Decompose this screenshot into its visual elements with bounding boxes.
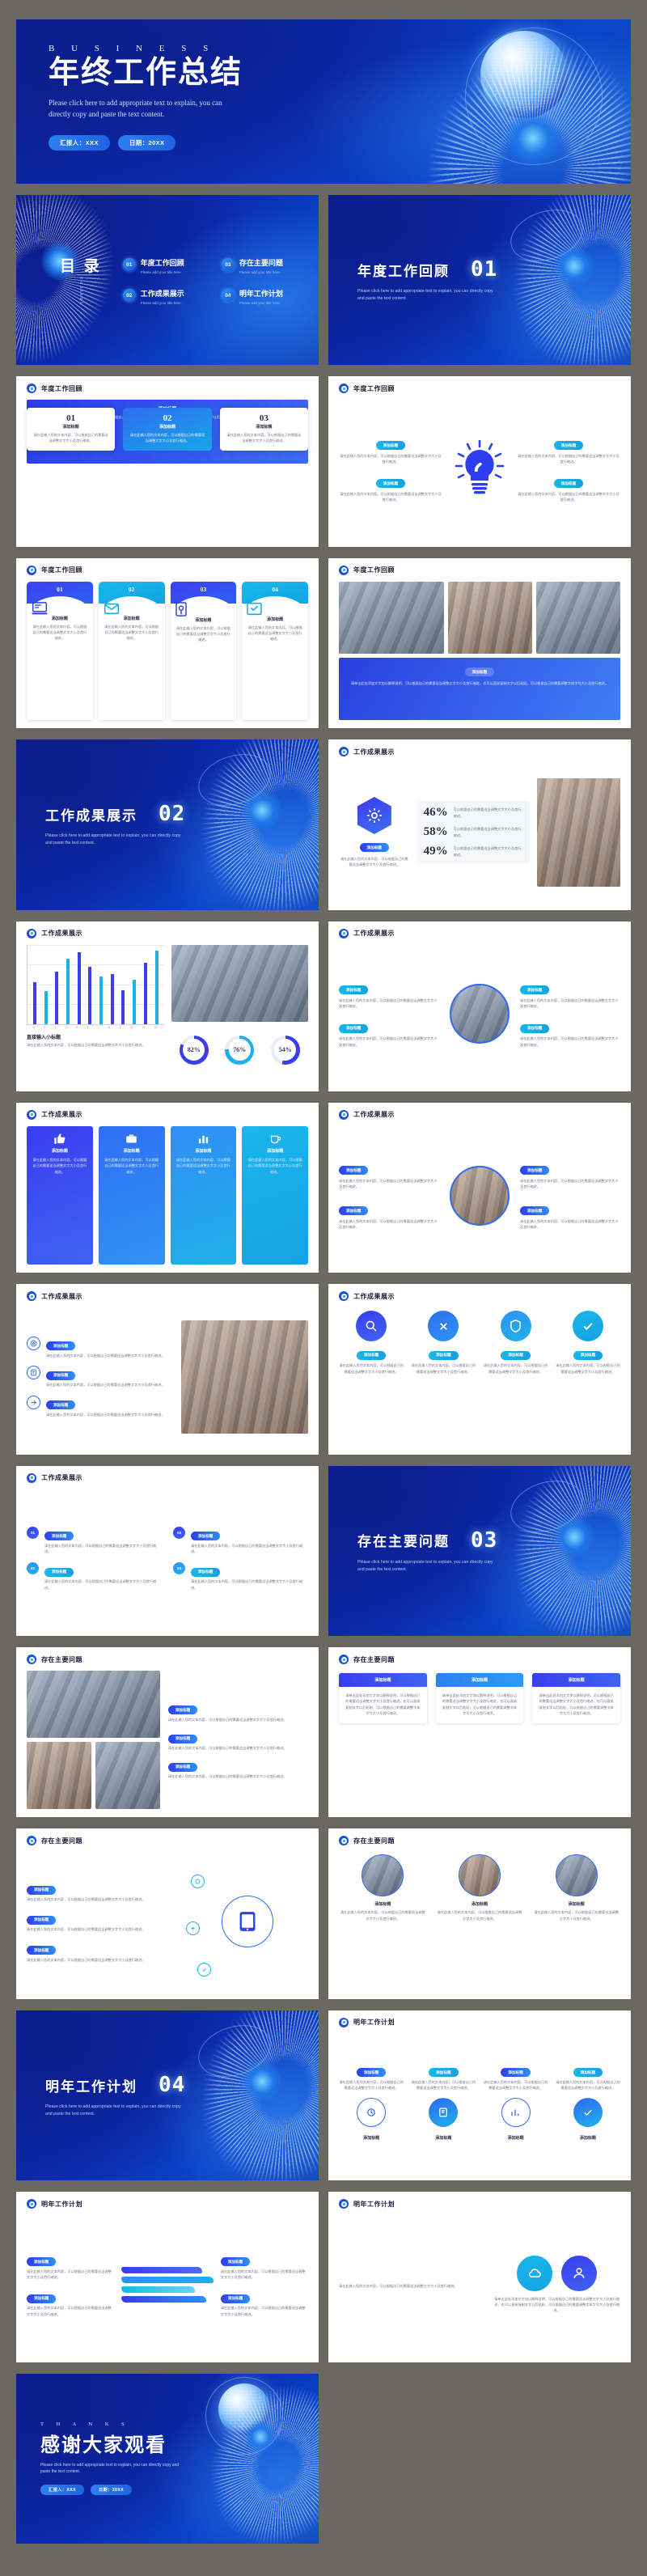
ribbon-item-4[interactable]: 添加标题 请在此输入您的文本内容，可以根据自己的需要适当调整文字大小及首行缩进。 (221, 2289, 308, 2317)
chart-x-label: 12 (154, 1026, 158, 1029)
block-text: 请在此输入您的文本内容，可以根据自己的需要适当调整文字大小及首行缩进。 (520, 1218, 620, 1231)
list-item-1[interactable]: 添加标题 请在此输入您的文本内容，可以根据自己的需要适当调整文字大小及首行缩进。 (27, 1880, 178, 1902)
item-text: 请在此输入您的文本内容，可以根据自己的需要适当调整文字大小及首行缩进。 (27, 1957, 178, 1963)
bubble-item-2[interactable]: 添加标题 请在此输入您的文本内容，可以根据自己的需要适当调整文字大小及首行缩进。 (411, 1311, 476, 1375)
toc-sub: Please add your title here. (141, 301, 184, 305)
problem-item-2[interactable]: 添加标题 请在此输入您的文本内容，可以根据自己的需要适当调整文字大小及首行缩进。 (168, 1729, 308, 1751)
timeline-text: 请在此输入您的文本内容，可以根据自己的需要适当调整文字大小及首行缩进。 (556, 2079, 620, 2091)
block-tag: 添加标题 (554, 441, 583, 450)
slide-thanks[interactable]: T H A N K S 感谢大家观看 Please click here to … (16, 2374, 319, 2544)
text-block-3[interactable]: 添加标题 请在此输入您的文本内容，可以根据自己的需要适当调整文字大小及首行缩进。 (520, 1161, 620, 1190)
tile-title: 添加标题 (195, 1148, 211, 1154)
close-icon (428, 1311, 459, 1341)
donut-chart: 54% (271, 1036, 300, 1065)
slide-bullet-icon (27, 2199, 36, 2209)
card-02[interactable]: 02 添加标题 请在此输入您的文本内容，可以根据自己的需要适当调整文字大小及首行… (123, 408, 211, 451)
circular-photo (459, 1854, 501, 1896)
list-item-4[interactable]: 04 添加标题 请在此输入您的文本内容，可以根据自己的需要适当调整文字大小及首行… (173, 1562, 308, 1591)
photo-people (181, 1320, 308, 1434)
slide-header-title: 存在主要问题 (41, 1655, 82, 1664)
card-text: 请单击此处添加文字加以解释说明，可以根据自己的需要适当调整文字大小及首行缩进，也… (345, 1693, 421, 1716)
timeline-node-1[interactable] (357, 2098, 386, 2127)
section-subtitle: Please click here to add appropriate tex… (357, 1559, 499, 1574)
section-number: 04 (159, 2073, 185, 2097)
thanks-subtitle: Please click here to add appropriate tex… (40, 2462, 182, 2475)
slide-review-arch-cards[interactable]: 年度工作回顾 01 添加标题 请在此输入您的文本内容，可以根据自己的需要适当调整… (16, 558, 319, 728)
slide-header-title: 存在主要问题 (353, 1655, 395, 1664)
card-01[interactable]: 01 添加标题 请在此输入您的文本内容，可以根据自己的需要适当调整文字大小及首行… (27, 408, 115, 451)
tile-title: 添加标题 (124, 1148, 140, 1154)
tile-1[interactable]: 添加标题 请在此输入您的文本内容，可以根据自己的需要适当调整文字大小及首行缩进。 (27, 1126, 93, 1265)
percentage-text: 可以根据自己的需要适当调整文字大小及首行缩进。 (454, 826, 523, 838)
slide-results-chart[interactable]: 工作成果展示 123456789101112 直接输入小标题 请在此输入您的文本… (16, 922, 319, 1091)
slide-section-04[interactable]: 明年工作计划 04 Please click here to add appro… (16, 2010, 319, 2180)
circle-item-2[interactable]: 添加标题 请在此输入您的文本内容，可以根据自己的需要适当调整文字大小及首行缩进。 (436, 1854, 524, 1921)
item-number: 04 (173, 1562, 185, 1574)
left-column: 添加标题 请在此输入您的文本内容，可以根据自己的需要适当调整文字大小及首行缩进。… (27, 2252, 114, 2317)
arch-title: 添加标题 (32, 616, 88, 621)
step-tag: 添加标题 (46, 1371, 75, 1380)
percentage-text: 可以根据自己的需要适当调整文字大小及首行缩进。 (454, 807, 523, 819)
item-text: 请在此输入您的文本内容，可以根据自己的需要适当调整文字大小及首行缩进。 (191, 1543, 308, 1555)
ribbon-item-2[interactable]: 添加标题 请在此输入您的文本内容，可以根据自己的需要适当调整文字大小及首行缩进。 (27, 2289, 114, 2317)
toc-number: 02 (123, 289, 136, 302)
slide-bullet-icon (27, 1473, 36, 1483)
timeline-caption: 添加标题 (339, 2135, 404, 2141)
percentage-value: 46% (424, 806, 448, 820)
circles-text: 请单击此处添加文字加以解释说明，可以根据自己的需要适当调整文字大小及首行缩进，也… (493, 2296, 620, 2314)
block-text: 请在此输入您的文本内容，可以根据自己的需要适当调整文字大小及首行缩进。 (517, 491, 620, 503)
step-3[interactable]: 添加标题 请在此输入您的文本内容，可以根据自己的需要适当调整文字大小及首行缩进。 (27, 1396, 173, 1417)
chart-x-label: 9 (120, 1026, 121, 1029)
problem-item-1[interactable]: 添加标题 请在此输入您的文本内容，可以根据自己的需要适当调整文字大小及首行缩进。 (168, 1701, 308, 1722)
arch-title: 添加标题 (104, 616, 160, 621)
timeline-captions: 添加标题 添加标题 添加标题 添加标题 (339, 2134, 620, 2143)
circle-text: 请在此输入您的文本内容，可以根据自己的需要适当调整文字大小及首行缩进。 (339, 1909, 427, 1921)
target-icon (27, 1337, 40, 1350)
slide-bullet-icon (339, 383, 349, 393)
chart-bar (78, 952, 81, 1024)
list-item-2[interactable]: 添加标题 请在此输入您的文本内容，可以根据自己的需要适当调整文字大小及首行缩进。 (27, 1910, 178, 1932)
list-item-2[interactable]: 02 添加标题 请在此输入您的文本内容，可以根据自己的需要适当调整文字大小及首行… (27, 1562, 162, 1591)
step-text: 请在此输入您的文本内容，可以根据自己的需要适当调整文字大小及首行缩进。 (46, 1353, 165, 1358)
list-item-3[interactable]: 03 添加标题 请在此输入您的文本内容，可以根据自己的需要适当调整文字大小及首行… (173, 1527, 308, 1555)
item-text: 请在此输入您的文本内容，可以根据自己的需要适当调整文字大小及首行缩进。 (27, 2305, 114, 2317)
arch-card-02[interactable]: 02 添加标题 请在此输入您的文本内容，可以根据自己的需要适当调整文字大小及首行… (99, 582, 165, 720)
chart-x-label: 11 (142, 1026, 145, 1029)
slide-header-title: 工作成果展示 (353, 1292, 395, 1301)
block-text: 请在此输入您的文本内容，可以根据自己的需要适当调整文字大小及首行缩进。 (339, 453, 442, 465)
block-tag: 添加标题 (520, 1166, 549, 1175)
slide-results-two-column[interactable]: 工作成果展示 01 添加标题 请在此输入您的文本内容，可以根据自己的需要适当调整… (16, 1466, 319, 1636)
date-pill[interactable]: 日期：20XX (118, 135, 176, 150)
block-tag: 添加标题 (520, 1206, 549, 1215)
slide-bullet-icon (339, 1110, 349, 1120)
check-icon (573, 1311, 603, 1341)
text-block-1[interactable]: 添加标题 请在此输入您的文本内容，可以根据自己的需要适当调整文字大小及首行缩进。 (339, 981, 439, 1010)
timeline-tag: 添加标题 (429, 2068, 458, 2077)
tab-card-2[interactable]: 添加标题 请单击此处添加文字加以解释说明，可以根据自己的需要适当调整文字大小及首… (436, 1673, 524, 1723)
chart-bar (133, 980, 136, 1024)
timeline-node-4[interactable] (573, 2098, 603, 2127)
slide-bullet-icon (27, 383, 36, 393)
block-tag: 添加标题 (520, 1024, 549, 1033)
item-number: 02 (27, 1562, 39, 1574)
slide-results-center-photo[interactable]: 工作成果展示 添加标题 请在此输入您的文本内容，可以根据自己的需要适当调整文字大… (328, 1103, 631, 1273)
circle-text: 请在此输入您的文本内容，可以根据自己的需要适当调整文字大小及首行缩进。 (436, 1909, 524, 1921)
toc-sub: Please add your title here. (141, 270, 184, 274)
right-column: 03 添加标题 请在此输入您的文本内容，可以根据自己的需要适当调整文字大小及首行… (173, 1527, 308, 1591)
block-tag: 添加标题 (339, 1024, 368, 1033)
hex-text: 请在此输入您的文本内容，可以根据自己的需要适当调整文字大小及首行缩进。 (339, 856, 410, 868)
block-text: 请在此输入您的文本内容，可以根据自己的需要适当调整文字大小及首行缩进。 (520, 1178, 620, 1190)
slide-bullet-icon (27, 1291, 36, 1301)
donut-chart: 76% (225, 1036, 254, 1065)
slide-header-title: 工作成果展示 (41, 1292, 82, 1301)
photo-3 (95, 1742, 160, 1809)
item-text: 请在此输入您的文本内容，可以根据自己的需要适当调整文字大小及首行缩进。 (44, 1543, 162, 1555)
block-text: 请在此输入您的文本内容，可以根据自己的需要适当调整文字大小及首行缩进。 (520, 998, 620, 1010)
card-header: 添加标题 (532, 1673, 620, 1687)
film-check-icon (247, 602, 303, 616)
bulb-block-2[interactable]: 添加标题 请在此输入您的文本内容，可以根据自己的需要适当调整文字大小及首行缩进。 (339, 474, 442, 503)
item-text: 请在此输入您的文本内容，可以根据自己的需要适当调整文字大小及首行缩进。 (168, 1773, 308, 1779)
slide-header-title: 存在主要问题 (41, 1837, 82, 1845)
slide-header-title: 明年工作计划 (41, 2200, 82, 2209)
arch-card-04[interactable]: 04 添加标题 请在此输入您的文本内容，可以根据自己的需要适当调整文字大小及首行… (242, 582, 308, 720)
toc-item-3[interactable]: 03 存在主要问题 Please add your title here. (222, 255, 307, 274)
donut-chart-group: 82%76%54% (171, 1022, 309, 1078)
thanks-eyebrow: T H A N K S (40, 2421, 319, 2427)
slide-results-percentages[interactable]: 工作成果展示 添加标题 请在此输入您的文本内容，可以根据自己的需要适当调整文字大… (328, 739, 631, 909)
chart-text: 请在此输入您的文本内容，可以根据自己的需要适当调整文字大小及首行缩进。 (27, 1042, 164, 1048)
block-tag: 添加标题 (376, 441, 405, 450)
slide-section-01[interactable]: 年度工作回顾 01 Please click here to add appro… (328, 195, 631, 365)
slide-plan-photo-circles[interactable]: 明年工作计划 请在此输入您的文本内容，可以根据自己的需要适当调整文字大小及首行缩… (328, 2192, 631, 2362)
toc-sub: Please add your title here. (239, 270, 283, 274)
percentage-row-2[interactable]: 58% 可以根据自己的需要适当调整文字大小及首行缩进。 (424, 825, 523, 839)
chart-x-label: 5 (76, 1026, 78, 1029)
bubble-item-3[interactable]: 添加标题 请在此输入您的文本内容，可以根据自己的需要适当调整文字大小及首行缩进。 (484, 1311, 548, 1375)
photo-grid (27, 1671, 160, 1809)
slide-plan-timeline[interactable]: 明年工作计划 添加标题 请在此输入您的文本内容，可以根据自己的需要适当调整文字大… (328, 2010, 631, 2180)
presenter-pill[interactable]: 汇报人：XXX (49, 135, 110, 150)
hex-tag: 添加标题 (360, 843, 389, 852)
slide-plan-ribbon[interactable]: 明年工作计划 添加标题 请在此输入您的文本内容，可以根据自己的需要适当调整文字大… (16, 2192, 319, 2362)
tile-3[interactable]: 添加标题 请在此输入您的文本内容，可以根据自己的需要适当调整文字大小及首行缩进。 (171, 1126, 237, 1265)
tab-card-1[interactable]: 添加标题 请单击此处添加文字加以解释说明，可以根据自己的需要适当调整文字大小及首… (339, 1673, 427, 1723)
slide-title[interactable]: B U S I N E S S 年终工作总结 Please click here… (16, 19, 631, 184)
toc-number: 01 (123, 258, 136, 271)
bubble-tag: 添加标题 (357, 1351, 386, 1360)
step-text: 请在此输入您的文本内容，可以根据自己的需要适当调整文字大小及首行缩进。 (46, 1412, 165, 1417)
card-text: 请单击此处添加文字加以解释说明，可以根据自己的需要适当调整文字大小及首行缩进，也… (539, 1693, 614, 1716)
percentage-value: 49% (424, 845, 448, 858)
item-number: 03 (173, 1527, 185, 1539)
text-block-4[interactable]: 添加标题 请在此输入您的文本内容，可以根据自己的需要适当调整文字大小及首行缩进。 (520, 1019, 620, 1048)
bubble-tag: 添加标题 (573, 1351, 603, 1360)
arrow-right-icon (27, 1396, 40, 1409)
item-text: 请在此输入您的文本内容，可以根据自己的需要适当调整文字大小及首行缩进。 (221, 2305, 308, 2317)
text-block-4[interactable]: 添加标题 请在此输入您的文本内容，可以根据自己的需要适当调整文字大小及首行缩进。 (520, 1201, 620, 1231)
circular-photo (556, 1854, 598, 1896)
slide-section-03[interactable]: 存在主要问题 03 Please click here to add appro… (328, 1466, 631, 1636)
percentage-row-1[interactable]: 46% 可以根据自己的需要适当调整文字大小及首行缩进。 (424, 806, 523, 820)
tile-text: 请在此输入您的文本内容，可以根据自己的需要适当调整文字大小及首行缩进。 (247, 1157, 302, 1175)
block-tag: 添加标题 (339, 1166, 368, 1175)
donut-label: 54% (279, 1046, 292, 1053)
card-text: 请在此输入您的文本内容，可以根据自己的需要适当调整文字大小及首行缩进。 (33, 432, 108, 444)
block-text: 请在此输入您的文本内容，可以根据自己的需要适当调整文字大小及首行缩进。 (339, 491, 442, 503)
timeline-caption: 添加标题 (556, 2135, 620, 2141)
chart-x-label: 4 (66, 1026, 67, 1029)
phone-icon (222, 1896, 273, 1947)
bubble-tag: 添加标题 (429, 1351, 458, 1360)
arch-card-01[interactable]: 01 添加标题 请在此输入您的文本内容，可以根据自己的需要适当调整文字大小及首行… (27, 582, 93, 720)
ring-diagram (188, 1852, 308, 1990)
photo-2 (27, 1742, 91, 1809)
section-subtitle: Please click here to add appropriate tex… (45, 833, 187, 847)
shield-icon (501, 1311, 531, 1341)
item-tag: 添加标题 (44, 1532, 74, 1540)
tile-4[interactable]: 添加标题 请在此输入您的文本内容，可以根据自己的需要适当调整文字大小及首行缩进。 (242, 1126, 308, 1265)
ring-node-2[interactable] (186, 1921, 200, 1935)
step-1[interactable]: 添加标题 请在此输入您的文本内容，可以根据自己的需要适当调整文字大小及首行缩进。 (27, 1337, 173, 1358)
section-title: 年度工作回顾 (357, 260, 450, 280)
briefcase-icon (125, 1133, 137, 1145)
cloud-icon[interactable] (517, 2256, 552, 2291)
timeline-text: 请在此输入您的文本内容，可以根据自己的需要适当调整文字大小及首行缩进。 (484, 2079, 548, 2091)
block-text: 请在此输入您的文本内容，可以根据自己的需要适当调整文字大小及首行缩进。 (517, 453, 620, 465)
item-text: 请在此输入您的文本内容，可以根据自己的需要适当调整文字大小及首行缩进。 (221, 2269, 308, 2281)
slide-problems-ring[interactable]: 存在主要问题 添加标题 请在此输入您的文本内容，可以根据自己的需要适当调整文字大… (16, 1828, 319, 1998)
arch-card-03[interactable]: 03 添加标题 请在此输入您的文本内容，可以根据自己的需要适当调整文字大小及首行… (171, 582, 237, 720)
item-tag: 添加标题 (221, 2257, 250, 2266)
slide-header-title: 工作成果展示 (353, 748, 395, 756)
slide-bullet-icon (339, 929, 349, 938)
section-title: 工作成果展示 (45, 804, 137, 824)
circles-column: 请单击此处添加文字加以解释说明，可以根据自己的需要适当调整文字大小及首行缩进，也… (493, 2256, 620, 2314)
document-icon (27, 1366, 40, 1379)
bubble-text: 请在此输入您的文本内容，可以根据自己的需要适当调整文字大小及首行缩进。 (484, 1362, 548, 1375)
item-tag: 添加标题 (168, 1735, 197, 1743)
circle-item-1[interactable]: 添加标题 请在此输入您的文本内容，可以根据自己的需要适当调整文字大小及首行缩进。 (339, 1854, 427, 1921)
bulb-block-1[interactable]: 添加标题 请在此输入您的文本内容，可以根据自己的需要适当调整文字大小及首行缩进。 (339, 436, 442, 465)
mobile-touch-icon (175, 602, 232, 616)
percentage-value: 58% (424, 825, 448, 839)
chart-icon (197, 1133, 209, 1145)
left-column: 添加标题 请在此输入您的文本内容，可以根据自己的需要适当调整文字大小及首行缩进。… (339, 1161, 439, 1230)
ring-node-3[interactable] (197, 1963, 211, 1976)
slide-bullet-icon (27, 1654, 36, 1664)
slide-problems-circles[interactable]: 存在主要问题 添加标题 请在此输入您的文本内容，可以根据自己的需要适当调整文字大… (328, 1828, 631, 1998)
panel-text: 请单击此处添加文字加以解释说明，可以根据自己的需要适当调整文字大小及首行缩进，也… (347, 680, 612, 686)
card-text: 请在此输入您的文本内容，可以根据自己的需要适当调整文字大小及首行缩进。 (129, 432, 205, 444)
chart-x-label: 8 (108, 1026, 110, 1029)
toc-label-en: content (78, 278, 83, 305)
bulb-block-3[interactable]: 添加标题 请在此输入您的文本内容，可以根据自己的需要适当调整文字大小及首行缩进。 (517, 436, 620, 465)
photo-caption: 请在此输入您的文本内容，可以根据自己的需要适当调整文字大小及首行缩进。 (339, 2283, 484, 2289)
timeline-node-2[interactable] (429, 2098, 458, 2127)
slide-header-title: 明年工作计划 (353, 2018, 395, 2027)
list-item-1[interactable]: 01 添加标题 请在此输入您的文本内容，可以根据自己的需要适当调整文字大小及首行… (27, 1527, 162, 1555)
toc-number: 03 (222, 258, 235, 271)
slide-bullet-icon (27, 929, 36, 938)
card-header: 添加标题 (436, 1673, 524, 1687)
text-block-3[interactable]: 添加标题 请在此输入您的文本内容，可以根据自己的需要适当调整文字大小及首行缩进。 (520, 981, 620, 1010)
people-icon[interactable] (561, 2256, 597, 2291)
block-tag: 添加标题 (376, 479, 405, 488)
photo-meeting (537, 778, 620, 887)
bulb-block-4[interactable]: 添加标题 请在此输入您的文本内容，可以根据自己的需要适当调整文字大小及首行缩进。 (517, 474, 620, 503)
panel-tag: 添加标题 (465, 667, 494, 676)
slide-table-of-contents[interactable]: 目 录 content 01 年度工作回顾 Please add your ti… (16, 195, 319, 365)
thumbs-up-icon (53, 1133, 66, 1145)
list-item-3[interactable]: 添加标题 请在此输入您的文本内容，可以根据自己的需要适当调整文字大小及首行缩进。 (27, 1941, 178, 1963)
toc-item-1[interactable]: 01 年度工作回顾 Please add your title here. (123, 255, 209, 274)
slide-review-photos-panel[interactable]: 年度工作回顾 添加标题 请单击此处添加文字加以解释说明，可以根据自己的需要适当调… (328, 558, 631, 728)
arch-text: 请在此输入您的文本内容，可以根据自己的需要适当调整文字大小及首行缩进。 (32, 624, 88, 642)
text-block-1[interactable]: 添加标题 请在此输入您的文本内容，可以根据自己的需要适当调整文字大小及首行缩进。 (339, 1161, 439, 1190)
slide-header-title: 存在主要问题 (353, 1837, 395, 1845)
ribbon-item-3[interactable]: 添加标题 请在此输入您的文本内容，可以根据自己的需要适当调整文字大小及首行缩进。 (221, 2252, 308, 2281)
photo-team (171, 945, 309, 1023)
presenter-pill[interactable]: 汇报人：XXX (40, 2485, 84, 2495)
circle-item-3[interactable]: 添加标题 请在此输入您的文本内容，可以根据自己的需要适当调整文字大小及首行缩进。 (532, 1854, 620, 1921)
item-tag: 添加标题 (168, 1705, 197, 1714)
item-tag: 添加标题 (27, 2257, 56, 2266)
chart-bar (33, 982, 36, 1024)
tab-card-3[interactable]: 添加标题 请单击此处添加文字加以解释说明，可以根据自己的需要适当调整文字大小及首… (532, 1673, 620, 1723)
slide-results-steps[interactable]: 工作成果展示 添加标题 请在此输入您的文本内容，可以根据自己的需要适当调整文字大… (16, 1284, 319, 1454)
bubble-text: 请在此输入您的文本内容，可以根据自己的需要适当调整文字大小及首行缩进。 (556, 1362, 620, 1375)
item-tag: 添加标题 (27, 1916, 56, 1925)
chart-x-label: 10 (130, 1026, 133, 1029)
hex-column: 添加标题 请在此输入您的文本内容，可以根据自己的需要适当调整文字大小及首行缩进。 (339, 797, 410, 868)
item-text: 请在此输入您的文本内容，可以根据自己的需要适当调整文字大小及首行缩进。 (27, 2269, 114, 2281)
photo-donut-column: 82%76%54% (171, 945, 309, 1083)
step-2[interactable]: 添加标题 请在此输入您的文本内容，可以根据自己的需要适当调整文字大小及首行缩进。 (27, 1366, 173, 1388)
text-block-2[interactable]: 添加标题 请在此输入您的文本内容，可以根据自己的需要适当调整文字大小及首行缩进。 (339, 1201, 439, 1231)
toc-number: 04 (222, 289, 235, 302)
slide-bullet-icon (339, 747, 349, 756)
chart-bar (121, 990, 125, 1024)
block-tag: 添加标题 (520, 985, 549, 994)
tile-2[interactable]: 添加标题 请在此输入您的文本内容，可以根据自己的需要适当调整文字大小及首行缩进。 (99, 1126, 165, 1265)
chart-bar (155, 951, 159, 1024)
photo-2 (448, 582, 532, 654)
photo-3 (536, 582, 620, 654)
chart-x-label: 6 (87, 1026, 89, 1029)
chart-subtitle: 直接输入小标题 (27, 1033, 164, 1040)
ring-node-1[interactable] (191, 1875, 205, 1888)
slide-results-circle-photo[interactable]: 工作成果展示 添加标题 请在此输入您的文本内容，可以根据自己的需要适当调整文字大… (328, 922, 631, 1091)
slide-results-bubbles[interactable]: 工作成果展示 添加标题 请在此输入您的文本内容，可以根据自己的需要适当调整文字大… (328, 1284, 631, 1454)
title-subtitle: Please click here to add appropriate tex… (49, 98, 243, 121)
chart-bar (88, 967, 91, 1024)
donut-chart: 82% (180, 1036, 209, 1065)
slide-header-title: 明年工作计划 (353, 2200, 395, 2209)
item-text: 请在此输入您的文本内容，可以根据自己的需要适当调整文字大小及首行缩进。 (191, 1578, 308, 1591)
problem-item-3[interactable]: 添加标题 请在此输入您的文本内容，可以根据自己的需要适当调整文字大小及首行缩进。 (168, 1757, 308, 1779)
item-text: 请在此输入您的文本内容，可以根据自己的需要适当调整文字大小及首行缩进。 (27, 1926, 178, 1932)
percentage-list: 46% 可以根据自己的需要适当调整文字大小及首行缩进。 58% 可以根据自己的需… (417, 801, 530, 863)
block-text: 请在此输入您的文本内容，可以根据自己的需要适当调整文字大小及首行缩进。 (339, 1036, 439, 1048)
toc-item-4[interactable]: 04 明年工作计划 Please add your title here. (222, 286, 307, 305)
circle-title: 添加标题 (532, 1901, 620, 1907)
item-text: 请在此输入您的文本内容，可以根据自己的需要适当调整文字大小及首行缩进。 (27, 1896, 178, 1902)
circular-photo (362, 1854, 404, 1896)
bubble-item-4[interactable]: 添加标题 请在此输入您的文本内容，可以根据自己的需要适当调整文字大小及首行缩进。 (556, 1311, 620, 1375)
ribbon-item-1[interactable]: 添加标题 请在此输入您的文本内容，可以根据自己的需要适当调整文字大小及首行缩进。 (27, 2252, 114, 2281)
card-title: 添加标题 (226, 424, 302, 430)
slide-review-three-cards[interactable]: 年度工作回顾 添加标题 请单击此处添加文字加以解释说明，可以根据自己的需要适当调… (16, 376, 319, 546)
date-pill[interactable]: 日期：20XX (91, 2485, 132, 2495)
slide-header-title: 年度工作回顾 (353, 384, 395, 393)
section-subtitle: Please click here to add appropriate tex… (45, 2104, 187, 2118)
step-tag: 添加标题 (46, 1341, 75, 1350)
section-number: 03 (471, 1528, 497, 1553)
right-column: 添加标题 请在此输入您的文本内容，可以根据自己的需要适当调整文字大小及首行缩进。… (221, 2252, 308, 2317)
card-03[interactable]: 03 添加标题 请在此输入您的文本内容，可以根据自己的需要适当调整文字大小及首行… (220, 408, 308, 451)
timeline-caption: 添加标题 (411, 2135, 476, 2141)
chart-x-labels: 123456789101112 (27, 1026, 164, 1029)
left-column: 添加标题 请在此输入您的文本内容，可以根据自己的需要适当调整文字大小及首行缩进。… (339, 436, 442, 502)
envelope-icon (104, 602, 160, 615)
slide-header-title: 年度工作回顾 (41, 566, 82, 574)
timeline-caption: 添加标题 (484, 2135, 548, 2141)
tile-text: 请在此输入您的文本内容，可以根据自己的需要适当调整文字大小及首行缩进。 (176, 1157, 231, 1175)
arch-text: 请在此输入您的文本内容，可以根据自己的需要适当调整文字大小及首行缩进。 (175, 625, 232, 643)
timeline-tags: 添加标题 请在此输入您的文本内容，可以根据自己的需要适当调整文字大小及首行缩进。… (339, 2063, 620, 2091)
lightbulb-icon (449, 440, 510, 498)
card-text: 请单击此处添加文字加以解释说明，可以根据自己的需要适当调整文字大小及首行缩进，也… (442, 1693, 518, 1716)
slide-bullet-icon (339, 2199, 349, 2209)
timeline-tag: 添加标题 (573, 2068, 603, 2077)
arch-text: 请在此输入您的文本内容，可以根据自己的需要适当调整文字大小及首行缩进。 (104, 624, 160, 642)
percentage-text: 可以根据自己的需要适当调整文字大小及首行缩进。 (454, 845, 523, 858)
toc-sub: Please add your title here. (239, 301, 283, 305)
slide-header-title: 年度工作回顾 (41, 384, 82, 393)
timeline-nodes (339, 2098, 620, 2127)
item-tag: 添加标题 (27, 1946, 56, 1955)
slide-results-tiles[interactable]: 工作成果展示 添加标题 请在此输入您的文本内容，可以根据自己的需要适当调整文字大… (16, 1103, 319, 1273)
text-block-2[interactable]: 添加标题 请在此输入您的文本内容，可以根据自己的需要适当调整文字大小及首行缩进。 (339, 1019, 439, 1048)
bubble-item-1[interactable]: 添加标题 请在此输入您的文本内容，可以根据自己的需要适当调整文字大小及首行缩进。 (339, 1311, 404, 1375)
item-number: 01 (27, 1527, 39, 1539)
chart-bar (44, 991, 48, 1024)
card-number: 03 (226, 413, 302, 423)
slide-section-02[interactable]: 工作成果展示 02 Please click here to add appro… (16, 739, 319, 909)
donut-label: 76% (233, 1046, 246, 1053)
slide-header-title: 工作成果展示 (41, 1110, 82, 1119)
slide-bullet-icon (27, 566, 36, 575)
block-text: 请在此输入您的文本内容，可以根据自己的需要适当调整文字大小及首行缩进。 (520, 1036, 620, 1048)
photo-column: 请在此输入您的文本内容，可以根据自己的需要适当调整文字大小及首行缩进。 (339, 2280, 484, 2289)
problem-list: 添加标题 请在此输入您的文本内容，可以根据自己的需要适当调整文字大小及首行缩进。… (168, 1671, 308, 1809)
toc-item-2[interactable]: 02 工作成果展示 Please add your title here. (123, 286, 209, 305)
slide-header-title: 工作成果展示 (41, 1473, 82, 1482)
circle-title: 添加标题 (339, 1901, 427, 1907)
timeline-node-3[interactable] (501, 2098, 531, 2127)
slide-review-lightbulb[interactable]: 年度工作回顾 添加标题 请在此输入您的文本内容，可以根据自己的需要适当调整文字大… (328, 376, 631, 546)
slide-problems-photos[interactable]: 存在主要问题 添加标题 请在此输入您的文本内容，可以根据自己的需要适当调整文字大… (16, 1647, 319, 1817)
item-text: 请在此输入您的文本内容，可以根据自己的需要适当调整文字大小及首行缩进。 (44, 1578, 162, 1591)
slide-thumbnail-grid: B U S I N E S S 年终工作总结 Please click here… (16, 19, 631, 2544)
item-tag: 添加标题 (168, 1763, 197, 1772)
slide-problems-tabcards[interactable]: 存在主要问题 添加标题 请单击此处添加文字加以解释说明，可以根据自己的需要适当调… (328, 1647, 631, 1817)
percentage-row-3[interactable]: 49% 可以根据自己的需要适当调整文字大小及首行缩进。 (424, 845, 523, 858)
